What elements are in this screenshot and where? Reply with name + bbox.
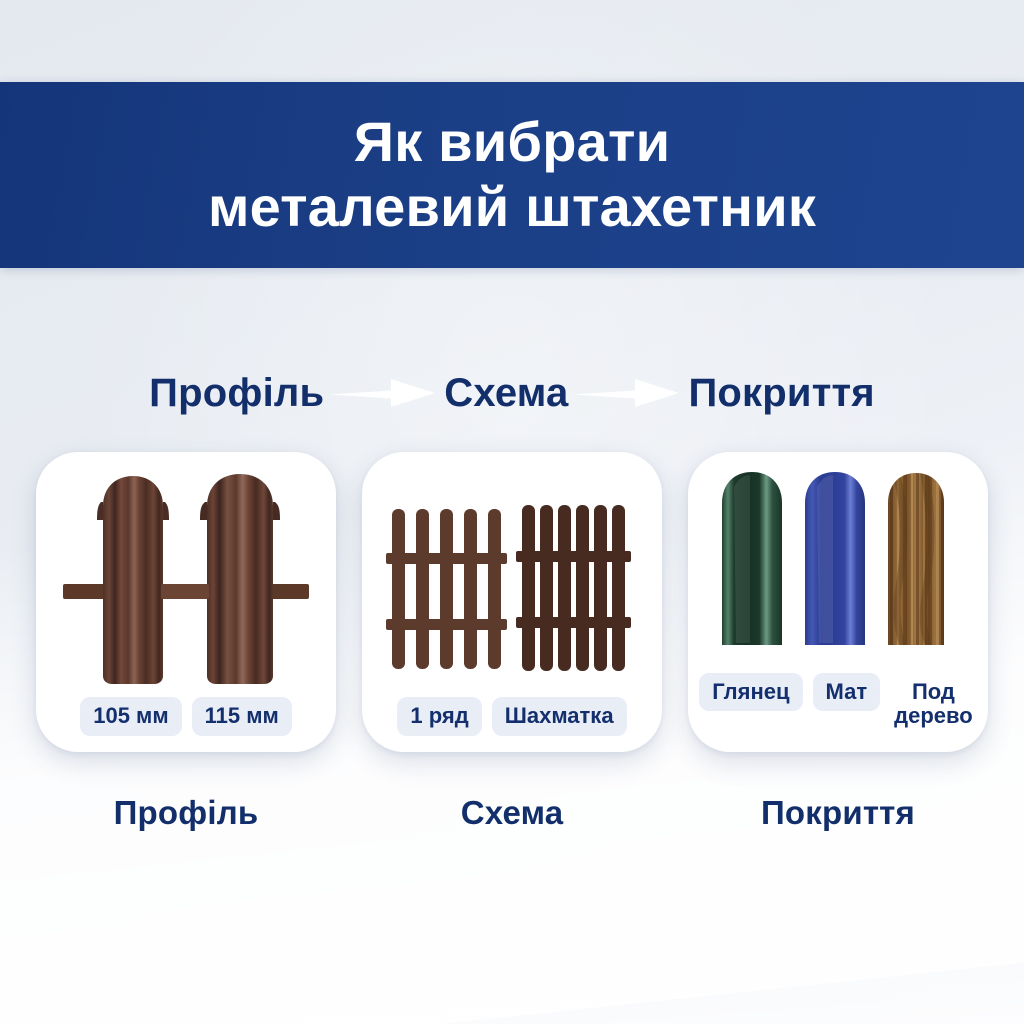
card-coating-badges: Глянец Мат Под дерево: [688, 663, 988, 752]
badge-matte[interactable]: Мат: [813, 673, 881, 712]
badge-wood-look[interactable]: Под дерево: [890, 673, 977, 736]
caption-coating: Покриття: [688, 794, 988, 832]
fence-checkerboard: [516, 505, 631, 671]
step-label-profile: Профіль: [149, 371, 324, 416]
caption-scheme: Схема: [362, 794, 662, 832]
card-profile-badges: 105 мм 115 мм: [36, 687, 336, 752]
step-label-scheme: Схема: [444, 371, 568, 416]
caption-profile: Профіль: [36, 794, 336, 832]
card-profile-illustration: [36, 452, 336, 687]
badge-checkerboard[interactable]: Шахматка: [492, 697, 627, 736]
card-coating-illustration: [688, 452, 988, 663]
card-coating[interactable]: Глянец Мат Под дерево: [688, 452, 988, 752]
infographic-page: Як вибрати металевий штахетник Профіль С…: [0, 0, 1024, 1024]
card-scheme-badges: 1 ряд Шахматка: [362, 687, 662, 752]
cards-row: 105 мм 115 мм: [0, 452, 1024, 764]
arrow-right-icon: [324, 373, 444, 413]
fence-single-row: [386, 509, 507, 669]
step-label-coating: Покриття: [688, 371, 874, 416]
page-title: Як вибрати металевий штахетник: [168, 110, 856, 240]
card-scheme[interactable]: 1 ряд Шахматка: [362, 452, 662, 752]
captions-row: Профіль Схема Покриття: [0, 786, 1024, 840]
arrow-right-icon-2: [568, 373, 688, 413]
badge-one-row[interactable]: 1 ряд: [397, 697, 481, 736]
card-profile[interactable]: 105 мм 115 мм: [36, 452, 336, 752]
steps-row: Профіль Схема Покриття: [0, 358, 1024, 428]
card-scheme-illustration: [362, 452, 662, 687]
badge-115mm[interactable]: 115 мм: [192, 697, 292, 736]
title-banner: Як вибрати металевий штахетник: [0, 82, 1024, 268]
badge-gloss[interactable]: Глянец: [699, 673, 802, 712]
badge-105mm[interactable]: 105 мм: [80, 697, 181, 736]
